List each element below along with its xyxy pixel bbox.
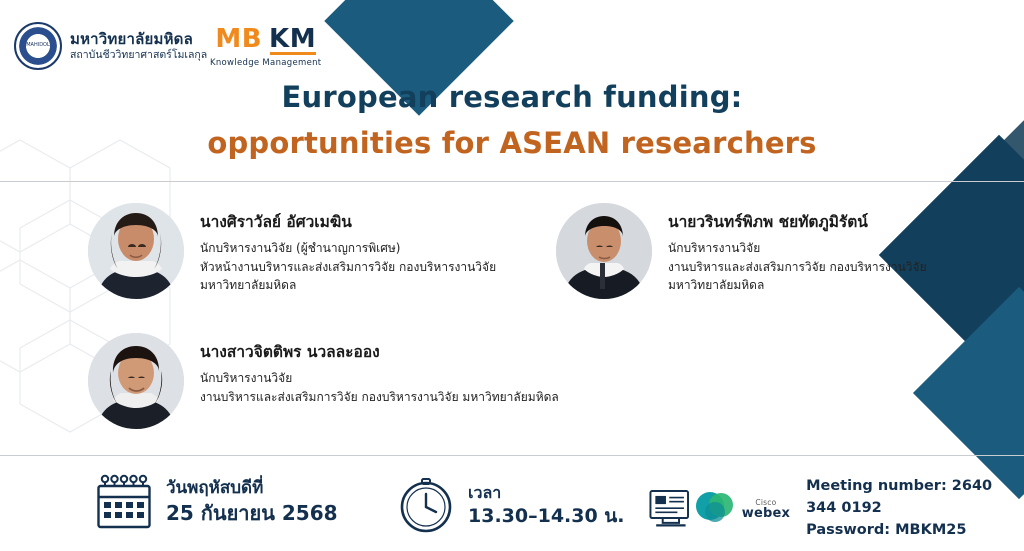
meeting-number: Meeting number: 2640 344 0192 bbox=[806, 476, 1024, 520]
divider-top bbox=[0, 181, 1024, 182]
date-value: 25 กันยายน 2568 bbox=[166, 500, 338, 527]
speaker-info: นางสาวจิตติพร นวลละออง นักบริหารงานวิจัย… bbox=[200, 333, 559, 406]
poster-title: European research funding: opportunities… bbox=[0, 80, 1024, 160]
footer-bar: วันพฤหัสบดีที่ 25 กันยายน 2568 เวลา 13.3… bbox=[0, 466, 1024, 551]
speaker-detail-line: นักบริหารงานวิจัย bbox=[668, 239, 927, 258]
mahidol-name-th: มหาวิทยาลัยมหิดล bbox=[70, 31, 207, 48]
title-line-1: European research funding: bbox=[0, 80, 1024, 114]
mahidol-logo-text: มหาวิทยาลัยมหิดล สถาบันชีววิทยาศาสตร์โมเ… bbox=[70, 31, 207, 60]
speaker-info: นางศิราวัลย์ อัศวเมฆิน นักบริหารงานวิจัย… bbox=[200, 203, 496, 295]
speaker-detail-line: งานบริหารและส่งเสริมการวิจัย กองบริหารงา… bbox=[668, 258, 927, 277]
mahidol-logo: MAHIDOL มหาวิทยาลัยมหิดล สถาบันชีววิทยาศ… bbox=[14, 22, 207, 70]
mbkm-km-text: KM bbox=[269, 24, 316, 54]
mahidol-seal-text: MAHIDOL bbox=[26, 43, 50, 48]
speaker-detail-line: มหาวิทยาลัยมหิดล bbox=[668, 276, 927, 295]
footer-date-block: วันพฤหัสบดีที่ 25 กันยายน 2568 bbox=[96, 474, 338, 530]
speaker-detail-line: นักบริหารงานวิจัย bbox=[200, 369, 559, 388]
webex-mark-icon bbox=[694, 488, 736, 530]
speaker-detail-line: งานบริหารและส่งเสริมการวิจัย กองบริหารงา… bbox=[200, 388, 559, 407]
online-meeting-icon bbox=[648, 484, 694, 534]
poster-canvas: MAHIDOL มหาวิทยาลัยมหิดล สถาบันชีววิทยาศ… bbox=[0, 0, 1024, 551]
speaker-detail-line: หัวหน้างานบริหารและส่งเสริมการวิจัย กองบ… bbox=[200, 258, 496, 277]
meeting-password: Password: MBKM25 bbox=[806, 520, 1024, 542]
avatar bbox=[88, 333, 184, 429]
footer-date-text: วันพฤหัสบดีที่ 25 กันยายน 2568 bbox=[166, 477, 338, 527]
mahidol-institute-th: สถาบันชีววิทยาศาสตร์โมเลกุล bbox=[70, 49, 207, 61]
speaker-info: นายวรินทร์พิภพ ชยทัตภูมิรัตน์ นักบริหารง… bbox=[668, 203, 927, 295]
mbkm-logo-row: MB KM bbox=[210, 24, 321, 55]
calendar-icon bbox=[96, 474, 152, 530]
speaker-name: นางสาวจิตติพร นวลละออง bbox=[200, 339, 559, 364]
footer-time-text: เวลา 13.30–14.30 น. bbox=[468, 482, 625, 529]
speaker-detail-line: มหาวิทยาลัยมหิดล bbox=[200, 276, 496, 295]
mahidol-seal-icon: MAHIDOL bbox=[14, 22, 62, 70]
webex-label: webex bbox=[742, 507, 790, 520]
mbkm-mb-text: MB bbox=[215, 24, 262, 54]
mbkm-logo: MB KM Knowledge Management bbox=[210, 24, 321, 68]
avatar bbox=[556, 203, 652, 299]
speaker-card: นางสาวจิตติพร นวลละออง นักบริหารงานวิจัย… bbox=[88, 333, 559, 429]
speaker-name: นายวรินทร์พิภพ ชยทัตภูมิรัตน์ bbox=[668, 209, 927, 234]
time-value: 13.30–14.30 น. bbox=[468, 504, 625, 530]
footer-time-block: เวลา 13.30–14.30 น. bbox=[398, 478, 625, 534]
time-label: เวลา bbox=[468, 482, 625, 504]
divider-bottom bbox=[0, 455, 1024, 456]
title-line-2: opportunities for ASEAN researchers bbox=[0, 126, 1024, 160]
footer-meeting-block: Cisco webex Meeting number: 2640 344 019… bbox=[648, 476, 1024, 541]
speaker-card: นายวรินทร์พิภพ ชยทัตภูมิรัตน์ นักบริหารง… bbox=[556, 203, 927, 299]
webex-wordmark: Cisco webex bbox=[742, 498, 790, 520]
meeting-details: Meeting number: 2640 344 0192 Password: … bbox=[806, 476, 1024, 541]
speaker-card: นางศิราวัลย์ อัศวเมฆิน นักบริหารงานวิจัย… bbox=[88, 203, 496, 299]
avatar bbox=[88, 203, 184, 299]
clock-icon bbox=[398, 478, 454, 534]
date-label: วันพฤหัสบดีที่ bbox=[166, 477, 338, 500]
webex-logo: Cisco webex bbox=[694, 488, 798, 530]
speaker-name: นางศิราวัลย์ อัศวเมฆิน bbox=[200, 209, 496, 234]
mbkm-subtitle: Knowledge Management bbox=[210, 58, 321, 68]
speaker-detail-line: นักบริหารงานวิจัย (ผู้ชำนาญการพิเศษ) bbox=[200, 239, 496, 258]
